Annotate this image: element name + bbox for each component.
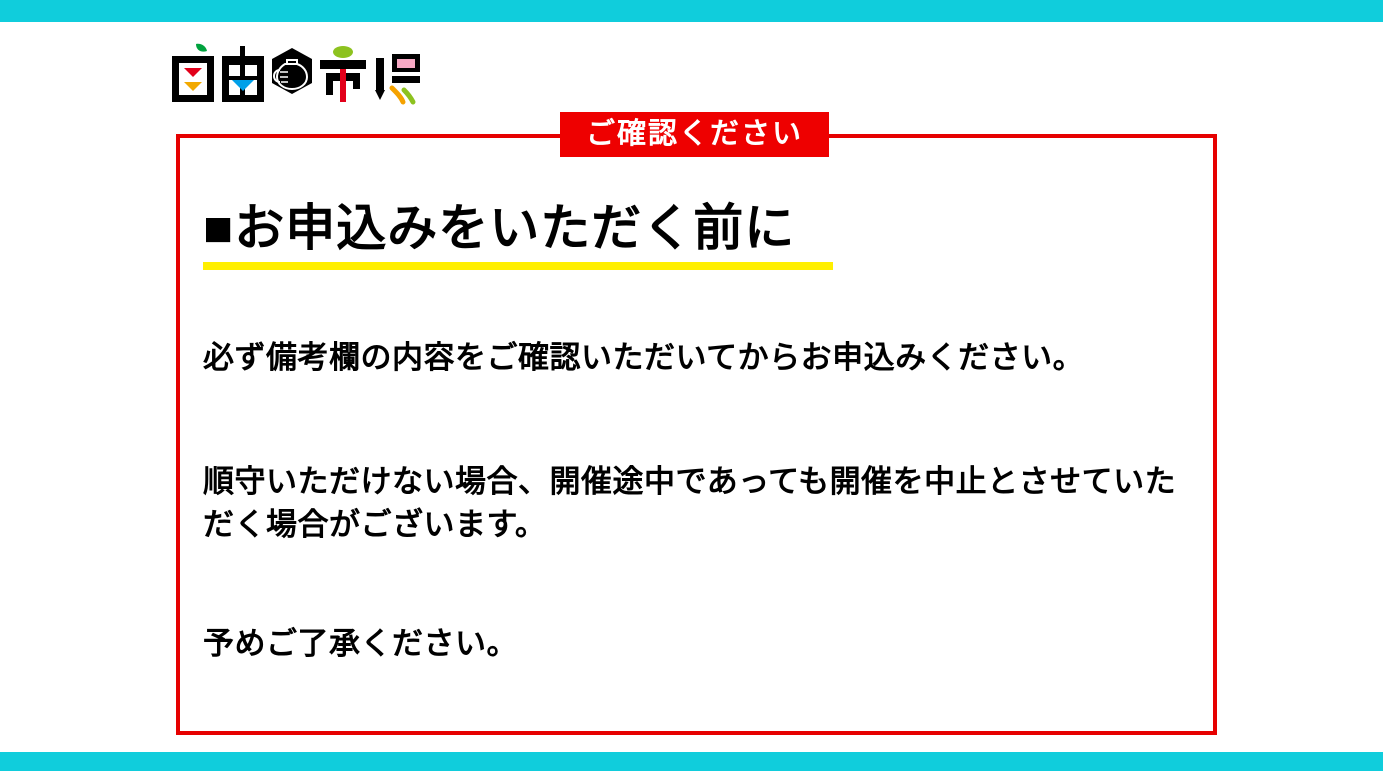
notice-paragraph-1: 必ず備考欄の内容をご確認いただいてからお申込みください。 [203, 337, 1203, 380]
logo-char-ba [375, 54, 420, 102]
notice-ribbon-label: ご確認ください [560, 112, 829, 157]
logo-char-yu [222, 46, 264, 102]
notice-heading: ■お申込みをいただく前に [203, 200, 795, 258]
notice-content: ■お申込みをいただく前に [203, 200, 1193, 258]
logo-char-pot-hexagon [272, 48, 312, 94]
notice-paragraph-2: 順守いただけない場合、開催途中であっても開催を中止とさせていただく場合がございま… [203, 461, 1188, 547]
site-logo[interactable] [168, 40, 428, 106]
logo-char-ichi [320, 46, 366, 102]
logo-char-shiro [172, 44, 214, 102]
bottom-accent-bar [0, 752, 1383, 771]
heading-underline [203, 262, 833, 270]
logo-icon [168, 40, 428, 106]
top-accent-bar [0, 0, 1383, 22]
notice-paragraph-3: 予めご了承ください。 [203, 623, 1203, 666]
